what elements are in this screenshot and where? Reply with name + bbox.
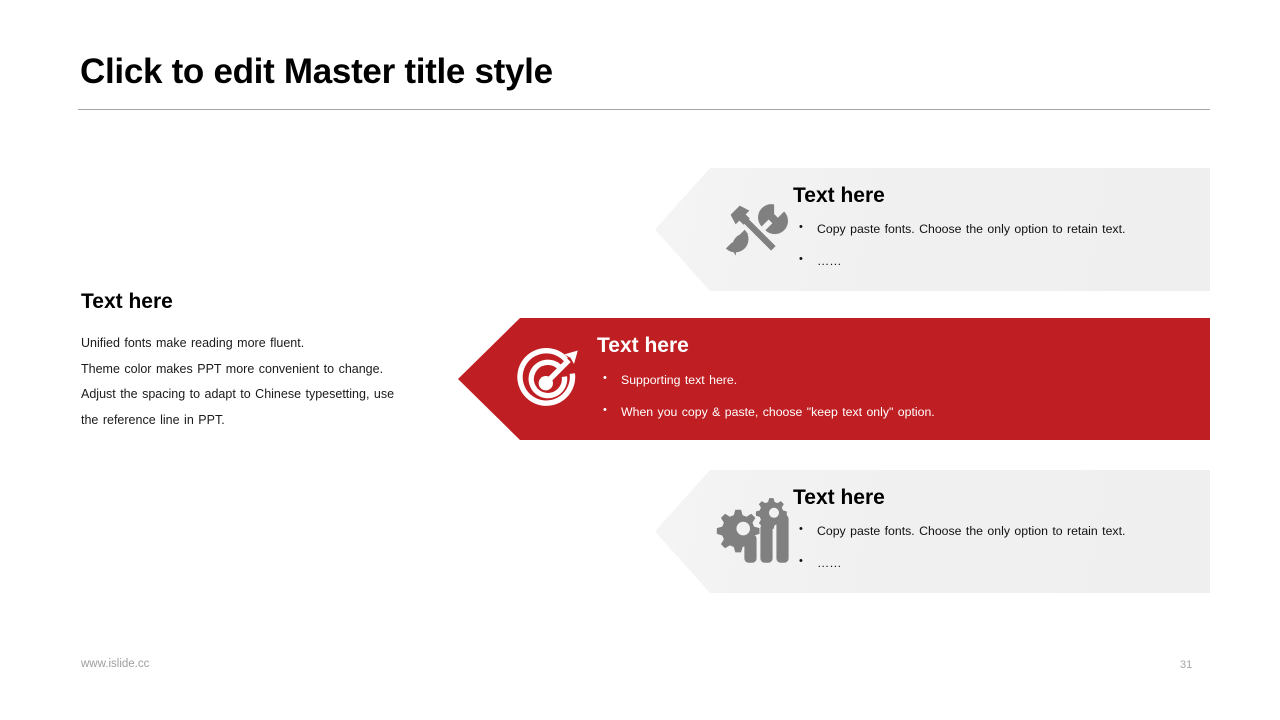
- banner-bottom-bullet[interactable]: ……: [793, 557, 1125, 569]
- left-block-line: Unified fonts make reading more fluent.: [81, 331, 451, 357]
- banner-top-bullet[interactable]: ……: [793, 255, 1125, 267]
- footer-url[interactable]: www.islide.cc: [81, 658, 149, 670]
- left-text-block: Text here Unified fonts make reading mor…: [81, 290, 451, 434]
- banner-top-bullet[interactable]: Copy paste fonts. Choose the only option…: [793, 223, 1125, 235]
- banner-bottom[interactable]: Text here Copy paste fonts. Choose the o…: [655, 470, 1210, 593]
- banner-top-bullets: Copy paste fonts. Choose the only option…: [793, 223, 1125, 268]
- banner-middle-bullets: Supporting text here. When you copy & pa…: [597, 374, 935, 419]
- banner-middle-content: Text here Supporting text here. When you…: [597, 335, 935, 419]
- left-block-line: Theme color makes PPT more convenient to…: [81, 357, 451, 383]
- banner-middle[interactable]: Text here Supporting text here. When you…: [458, 318, 1210, 440]
- banner-bottom-bullets: Copy paste fonts. Choose the only option…: [793, 525, 1125, 570]
- banner-middle-heading[interactable]: Text here: [597, 335, 935, 357]
- banner-top[interactable]: Text here Copy paste fonts. Choose the o…: [655, 168, 1210, 291]
- left-block-line: Adjust the spacing to adapt to Chinese t…: [81, 382, 451, 408]
- banner-middle-bullet[interactable]: Supporting text here.: [597, 374, 935, 386]
- left-block-line: the reference line in PPT.: [81, 408, 451, 434]
- banner-top-content: Text here Copy paste fonts. Choose the o…: [793, 185, 1125, 268]
- page-title[interactable]: Click to edit Master title style: [80, 52, 553, 92]
- page-number: 31: [1180, 659, 1192, 671]
- left-block-heading[interactable]: Text here: [81, 290, 451, 313]
- left-block-body[interactable]: Unified fonts make reading more fluent. …: [81, 331, 451, 434]
- bar-chart-gears-icon: [713, 492, 795, 572]
- banner-bottom-heading[interactable]: Text here: [793, 487, 1125, 509]
- banner-bottom-bullet[interactable]: Copy paste fonts. Choose the only option…: [793, 525, 1125, 537]
- hammer-wrench-icon: [715, 190, 795, 270]
- banner-middle-bullet[interactable]: When you copy & paste, choose "keep text…: [597, 406, 935, 418]
- banner-bottom-content: Text here Copy paste fonts. Choose the o…: [793, 487, 1125, 570]
- banner-top-heading[interactable]: Text here: [793, 185, 1125, 207]
- title-divider: [78, 109, 1210, 110]
- target-arrow-icon: [508, 340, 590, 420]
